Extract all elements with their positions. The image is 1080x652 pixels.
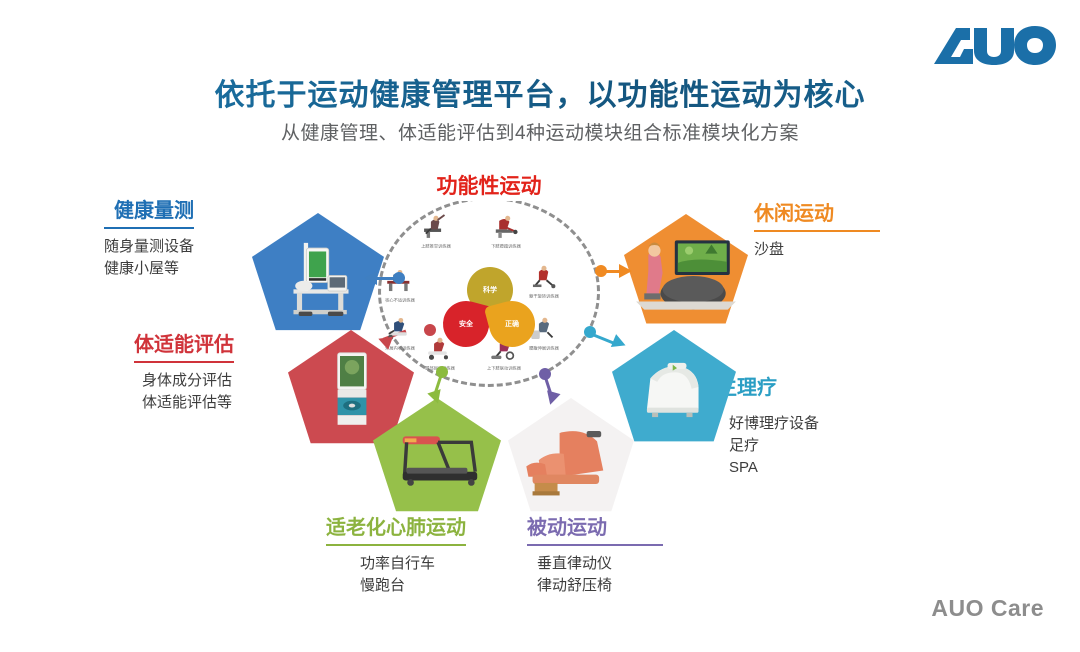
module-body-line: SPA [697,457,819,479]
slide-canvas: 依托于运动健康管理平台，以功能性运动为核心 从健康管理、体适能评估到4种运动模块… [0,0,1080,652]
module-heading: 休闲运动 [754,203,880,225]
module-rule [104,227,194,229]
petal-correct: 正确 [484,296,540,352]
module-heading: 被动运动 [527,517,663,539]
node-fitness-assessment[interactable] [424,324,436,336]
node-wellness-therapy[interactable] [584,326,596,338]
module-body-line: 身体成分评估 [134,370,234,392]
node-health-measurement[interactable] [393,272,405,284]
card-elderly-cardio[interactable] [373,398,501,516]
hub-equipment-item: 下肢蹬踏训练器 [486,213,526,249]
module-rule [326,544,466,546]
card-wellness-therapy[interactable] [612,330,736,446]
module-body-line: 体适能评估等 [134,392,234,414]
module-body-line: 慢跑台 [326,575,466,597]
node-passive-exercise[interactable] [539,368,551,380]
module-text-fitness-assessment: 体适能评估 身体成分评估 体适能评估等 [134,334,234,414]
card-leisure-sports[interactable] [624,214,748,328]
module-body-line: 健康小屋等 [104,258,194,280]
petal-label: 安全 [459,319,473,329]
module-rule [527,544,663,546]
petal-label: 正确 [505,319,519,329]
massage-chair-photo [518,416,622,500]
module-heading: 体适能评估 [134,334,234,356]
hub-core-petals: 科学 安全 正确 [441,267,537,353]
arrowhead-leisure-sports [619,264,632,278]
equipment-caption: 上肢推举训练器 [411,245,461,250]
module-text-health-measurement: 健康量测 随身量测设备 健康小屋等 [104,200,194,280]
module-body-line: 功率自行车 [326,553,466,575]
golf-simulator-photo [630,232,742,314]
module-body-line: 垂直律动仪 [527,553,663,575]
treadmill-photo [389,422,487,492]
footer-brand: AUO Care [931,595,1044,622]
page-title: 依托于运动健康管理平台，以功能性运动为核心 [0,70,1080,114]
module-body-line: 律动舒压椅 [527,575,663,597]
hub-equipment-item: 上肢推举训练器 [416,213,456,249]
module-text-leisure-sports: 休闲运动 沙盘 [754,203,880,261]
module-text-elderly-cardio: 适老化心肺运动 功率自行车 慢跑台 [326,517,466,597]
module-body-line: 沙盘 [754,239,880,261]
arrowhead-health-measurement [364,271,377,285]
equipment-caption: 核心不适训练器 [375,299,425,304]
body-composition-kiosk-photo [328,342,376,434]
node-leisure-sports[interactable] [595,265,607,277]
health-kiosk-photo [278,233,364,325]
foot-spa-photo [628,350,714,424]
module-heading: 健康量测 [104,200,194,222]
hub-title: 功能性运动 [429,169,550,201]
node-elderly-cardio[interactable] [436,366,448,378]
equipment-caption: 上下肢联动训练器 [479,367,529,372]
page-subtitle: 从健康管理、体适能评估到4种运动模块组合标准模块化方案 [0,118,1080,145]
auo-logo [930,20,1058,72]
module-body-line: 随身量测设备 [104,236,194,258]
module-heading: 适老化心肺运动 [326,517,466,539]
petal-label: 科学 [483,285,497,295]
module-rule [754,230,880,232]
equipment-caption: 下肢蹬踏训练器 [481,245,531,250]
module-text-passive-exercise: 被动运动 垂直律动仪 律动舒压椅 [527,517,663,597]
module-rule [134,361,234,363]
